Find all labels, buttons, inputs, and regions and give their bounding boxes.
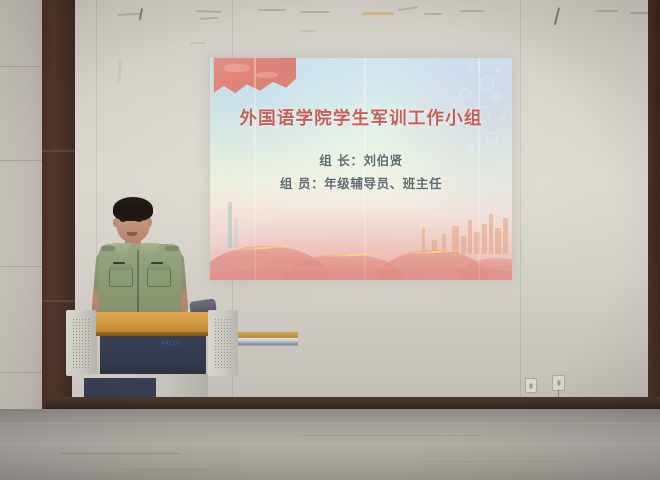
shoulder-tab-right: [165, 246, 179, 251]
wall-scuff: [258, 9, 286, 11]
slide-body-line-2: 组 员：年级辅导员、班主任: [210, 173, 512, 192]
bokeh-circle-icon: [480, 76, 494, 90]
podium-speaker-right: [208, 310, 238, 376]
wall-scuff: [300, 30, 316, 32]
skyline-building: [503, 218, 508, 254]
ear-left: [113, 218, 118, 227]
skyline-building: [495, 228, 501, 254]
mouth: [127, 232, 137, 236]
skyline-building: [468, 220, 472, 254]
podium-speaker-left: [66, 310, 96, 376]
podium-front-panel: [100, 336, 206, 374]
wall-scuff: [460, 10, 484, 12]
projected-slide: 外国语学院学生军训工作小组 组 长：刘伯贤 组 员：年级辅导员、班主任: [210, 58, 512, 280]
wall-scuff: [190, 42, 206, 44]
podium-brand-logo: PRIVO: [162, 341, 180, 347]
hair: [113, 197, 153, 221]
tower-silhouette: [234, 218, 238, 248]
podium-wood-top: [94, 312, 216, 334]
ear-right: [147, 218, 152, 227]
speaker-grille-icon: [72, 318, 90, 368]
slide-title: 外国语学院学生军训工作小组: [210, 105, 512, 130]
wall-seam: [520, 0, 521, 400]
bokeh-circle-icon: [492, 92, 502, 102]
wall-scuff: [424, 13, 442, 15]
left-wall: [0, 0, 46, 480]
screen-seam: [254, 58, 256, 280]
bokeh-circle-icon: [468, 64, 475, 71]
bokeh-circle-icon: [496, 68, 501, 73]
screen-seam: [478, 58, 480, 280]
slide-body-line-1: 组 长：刘伯贤: [210, 150, 512, 169]
speaker-person: [95, 196, 185, 331]
wall-scuff: [362, 12, 394, 15]
tower-silhouette: [228, 202, 232, 248]
lecture-hall-photo: 外国语学院学生军训工作小组 组 长：刘伯贤 组 员：年级辅导员、班主任: [0, 0, 660, 480]
skyline-building: [482, 224, 487, 254]
wall-outlet[interactable]: [525, 378, 537, 393]
bokeh-circle-icon: [460, 88, 471, 99]
right-column: [648, 0, 660, 400]
wall-scuff: [300, 11, 330, 13]
speaker-grille-icon: [214, 318, 232, 368]
bokeh-circle-icon: [486, 132, 498, 144]
wall-scuff: [630, 12, 648, 14]
wall-scuff: [596, 10, 618, 12]
shoulder-tab-left: [101, 246, 115, 251]
skyline-building: [461, 236, 466, 254]
chest-pocket-left: [109, 268, 133, 287]
floor: [0, 409, 660, 480]
screen-seam: [364, 58, 366, 280]
chest-pocket-right: [147, 268, 171, 287]
skyline-building: [489, 214, 493, 254]
